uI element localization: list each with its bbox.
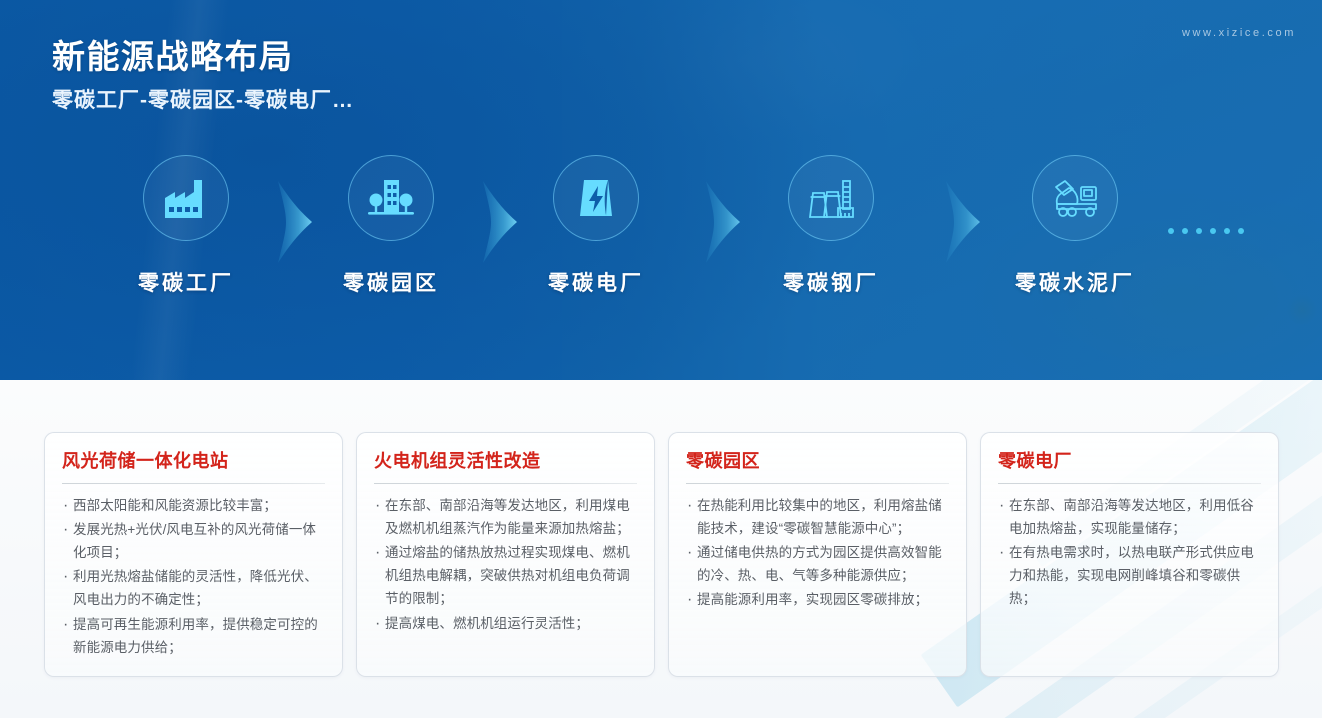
detail-card[interactable]: 风光荷储一体化电站 西部太阳能和风能资源比较丰富； 发展光热+光伏/风电互补的风… xyxy=(44,432,343,677)
page-subtitle: 零碳工厂-零碳园区-零碳电厂… xyxy=(52,84,354,114)
cement-mixer-truck-icon xyxy=(1048,177,1102,219)
icon-circle xyxy=(788,155,874,241)
card-divider xyxy=(374,483,637,484)
hero-section: www.xizice.com 新能源战略布局 零碳工厂-零碳园区-零碳电厂… 零… xyxy=(0,0,1322,380)
flow-node-label: 零碳钢厂 xyxy=(751,267,911,297)
site-watermark: www.xizice.com xyxy=(1182,27,1296,39)
dot xyxy=(1168,228,1174,234)
bullet-item: 在有热电需求时，以热电联产形式供应电力和热能，实现电网削峰填谷和零碳供热； xyxy=(998,541,1261,611)
card-list: 风光荷储一体化电站 西部太阳能和风能资源比较丰富； 发展光热+光伏/风电互补的风… xyxy=(44,432,1279,677)
icon-circle xyxy=(1032,155,1118,241)
flow-node-factory[interactable]: 零碳工厂 xyxy=(106,155,266,297)
detail-card[interactable]: 零碳电厂 在东部、南部沿海等发达地区，利用低谷电加热熔盐，实现能量储存； 在有热… xyxy=(980,432,1279,677)
bullet-item: 通过熔盐的储热放热过程实现煤电、燃机机组热电解耦，突破供热对机组电负荷调节的限制… xyxy=(374,541,637,611)
bullet-item: 在东部、南部沿海等发达地区，利用低谷电加热熔盐，实现能量储存； xyxy=(998,494,1261,540)
bullet-item: 在东部、南部沿海等发达地区，利用煤电及燃机机组蒸汽作为能量来源加热熔盐； xyxy=(374,494,637,540)
card-title: 风光荷储一体化电站 xyxy=(62,451,325,473)
icon-circle xyxy=(553,155,639,241)
chevron-right-icon xyxy=(700,181,746,263)
process-flow: 零碳工厂 xyxy=(0,155,1322,315)
icon-circle xyxy=(143,155,229,241)
card-bullet-list: 在热能利用比较集中的地区，利用熔盐储能技术，建设“零碳智慧能源中心”； 通过储电… xyxy=(686,494,949,612)
factory-icon xyxy=(162,176,210,220)
flow-node-label: 零碳水泥厂 xyxy=(995,267,1155,297)
dot xyxy=(1182,228,1188,234)
flow-node-power-plant[interactable]: 零碳电厂 xyxy=(516,155,676,297)
card-divider xyxy=(998,483,1261,484)
page-title: 新能源战略布局 xyxy=(52,30,294,78)
bullet-item: 提高煤电、燃机机组运行灵活性； xyxy=(374,612,637,635)
bullet-item: 提高可再生能源利用率，提供稳定可控的新能源电力供给； xyxy=(62,613,325,659)
card-title: 零碳电厂 xyxy=(998,451,1261,473)
ellipsis-dots-icon xyxy=(1168,228,1244,234)
card-bullet-list: 在东部、南部沿海等发达地区，利用低谷电加热熔盐，实现能量储存； 在有热电需求时，… xyxy=(998,494,1261,611)
bullet-item: 发展光热+光伏/风电互补的风光荷储一体化项目； xyxy=(62,518,325,564)
industrial-park-icon xyxy=(366,176,416,220)
steel-plant-icon xyxy=(805,175,857,221)
detail-section: 风光荷储一体化电站 西部太阳能和风能资源比较丰富； 发展光热+光伏/风电互补的风… xyxy=(0,380,1322,718)
card-title: 零碳园区 xyxy=(686,451,949,473)
flow-node-label: 零碳园区 xyxy=(311,267,471,297)
bullet-item: 提高能源利用率，实现园区零碳排放； xyxy=(686,588,949,611)
flow-node-steel-plant[interactable]: 零碳钢厂 xyxy=(751,155,911,297)
dot xyxy=(1238,228,1244,234)
card-bullet-list: 西部太阳能和风能资源比较丰富； 发展光热+光伏/风电互补的风光荷储一体化项目； … xyxy=(62,494,325,660)
bullet-item: 通过储电供热的方式为园区提供高效智能的冷、热、电、气等多种能源供应； xyxy=(686,541,949,587)
chevron-right-icon xyxy=(940,181,986,263)
bullet-item: 在热能利用比较集中的地区，利用熔盐储能技术，建设“零碳智慧能源中心”； xyxy=(686,494,949,540)
dot xyxy=(1196,228,1202,234)
flow-node-park[interactable]: 零碳园区 xyxy=(311,155,471,297)
card-divider xyxy=(686,483,949,484)
card-divider xyxy=(62,483,325,484)
bullet-item: 利用光热熔盐储能的灵活性，降低光伏、风电出力的不确定性； xyxy=(62,565,325,611)
dot xyxy=(1224,228,1230,234)
detail-card[interactable]: 零碳园区 在热能利用比较集中的地区，利用熔盐储能技术，建设“零碳智慧能源中心”；… xyxy=(668,432,967,677)
power-plant-bolt-icon xyxy=(574,176,618,220)
slide-page: www.xizice.com 新能源战略布局 零碳工厂-零碳园区-零碳电厂… 零… xyxy=(0,0,1322,718)
card-title: 火电机组灵活性改造 xyxy=(374,451,637,473)
dot xyxy=(1210,228,1216,234)
detail-card[interactable]: 火电机组灵活性改造 在东部、南部沿海等发达地区，利用煤电及燃机机组蒸汽作为能量来… xyxy=(356,432,655,677)
card-bullet-list: 在东部、南部沿海等发达地区，利用煤电及燃机机组蒸汽作为能量来源加热熔盐； 通过熔… xyxy=(374,494,637,635)
flow-node-label: 零碳工厂 xyxy=(106,267,266,297)
bullet-item: 西部太阳能和风能资源比较丰富； xyxy=(62,494,325,517)
flow-node-cement-plant[interactable]: 零碳水泥厂 xyxy=(995,155,1155,297)
icon-circle xyxy=(348,155,434,241)
flow-node-label: 零碳电厂 xyxy=(516,267,676,297)
